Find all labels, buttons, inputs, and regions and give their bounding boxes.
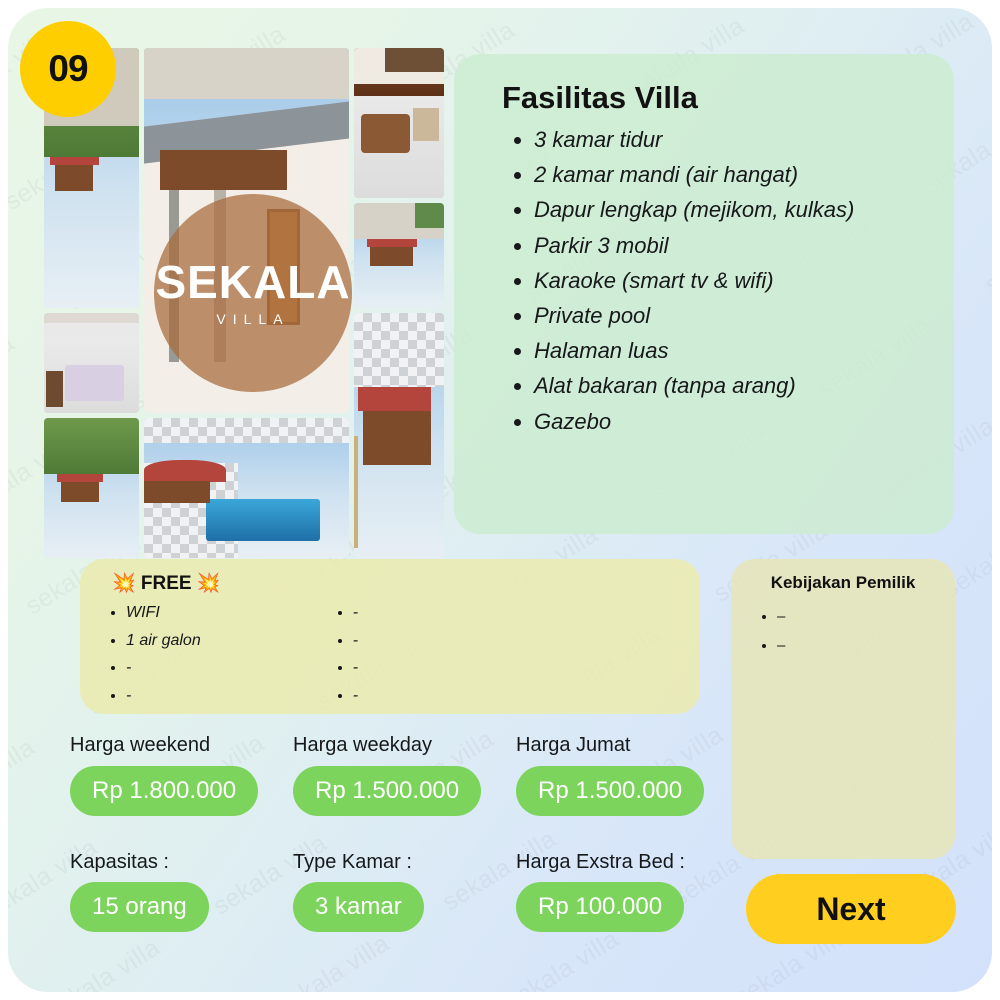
logo-subtitle: VILLA [216, 311, 289, 327]
free-item: - [353, 627, 358, 655]
free-title: 💥 FREE 💥 [112, 571, 700, 595]
photo-private-pool [144, 418, 349, 558]
free-item: WIFI [126, 599, 201, 627]
next-button[interactable]: Next [746, 874, 956, 944]
free-item: - [126, 682, 201, 710]
price-cell: Harga Exstra Bed :Rp 100.000 [516, 851, 739, 932]
price-row-primary: Harga weekendRp 1.800.000Harga weekdayRp… [70, 734, 739, 816]
next-button-label: Next [816, 891, 885, 928]
watermark-text: sekala villa [980, 207, 992, 300]
facility-item: Parkir 3 mobil [534, 228, 928, 263]
price-value-pill: 15 orang [70, 882, 209, 932]
watermark-text: sekala villa [959, 916, 992, 992]
owner-policy-item: – [777, 603, 955, 632]
free-item: 1 air galon [126, 627, 201, 655]
owner-policy-list: –– [777, 603, 955, 660]
slide-number-badge: 09 [20, 21, 116, 117]
price-label: Kapasitas : [70, 851, 293, 874]
photo-gazebo-terrace [354, 203, 444, 308]
photo-gazebo-poolside [354, 313, 444, 558]
owner-policy-panel: Kebijakan Pemilik –– [731, 559, 955, 859]
facility-item: Dapur lengkap (mejikom, kulkas) [534, 192, 928, 227]
photo-garden-gazebo [44, 418, 139, 558]
watermark-text: sekala villa [41, 933, 165, 992]
price-label: Harga Exstra Bed : [516, 851, 739, 874]
price-label: Harga weekday [293, 734, 516, 757]
price-label: Type Kamar : [293, 851, 516, 874]
price-label: Harga weekend [70, 734, 293, 757]
price-value-pill: Rp 1.800.000 [70, 766, 258, 816]
logo-brand: SEKALA [155, 259, 350, 305]
price-cell: Harga JumatRp 1.500.000 [516, 734, 739, 816]
facility-item: Alat bakaran (tanpa arang) [534, 368, 928, 403]
price-value-pill: 3 kamar [293, 882, 424, 932]
facility-item: 3 kamar tidur [534, 122, 928, 157]
free-item: - [353, 682, 358, 710]
facility-item: Private pool [534, 298, 928, 333]
owner-policy-title: Kebijakan Pemilik [731, 573, 955, 593]
price-cell: Harga weekdayRp 1.500.000 [293, 734, 516, 816]
facility-item: Gazebo [534, 404, 928, 439]
facility-item: Halaman luas [534, 333, 928, 368]
watermark-text: sekala villa [271, 929, 395, 992]
facilities-panel: Fasilitas Villa 3 kamar tidur2 kamar man… [454, 54, 954, 534]
facility-item: 2 kamar mandi (air hangat) [534, 157, 928, 192]
poster-card: sekala villasekala villasekala villaseka… [8, 8, 992, 992]
free-item: - [353, 599, 358, 627]
watermark-text: sekala villa [8, 328, 20, 421]
facilities-list: 3 kamar tidur2 kamar mandi (air hangat)D… [534, 122, 928, 439]
price-row-secondary: Kapasitas :15 orangType Kamar :3 kamarHa… [70, 851, 739, 932]
free-list-column-2: ---- [353, 599, 358, 709]
price-value-pill: Rp 1.500.000 [293, 766, 481, 816]
watermark-text: sekala villa [500, 925, 624, 992]
watermark-text: sekala villa [8, 733, 40, 826]
slide-number: 09 [48, 48, 87, 90]
photo-living-room [354, 48, 444, 198]
facility-item: Karaoke (smart tv & wifi) [534, 263, 928, 298]
price-label: Harga Jumat [516, 734, 739, 757]
facilities-title: Fasilitas Villa [502, 80, 928, 116]
price-value-pill: Rp 100.000 [516, 882, 684, 932]
price-value-pill: Rp 1.500.000 [516, 766, 704, 816]
price-cell: Kapasitas :15 orang [70, 851, 293, 932]
free-list-column-1: WIFI1 air galon-- [126, 599, 201, 709]
free-items-panel: 💥 FREE 💥 WIFI1 air galon-- ---- [80, 559, 700, 714]
owner-policy-item: – [777, 632, 955, 661]
sekala-villa-logo: SEKALA VILLA [154, 194, 352, 392]
price-cell: Harga weekendRp 1.800.000 [70, 734, 293, 816]
free-item: - [353, 654, 358, 682]
price-cell: Type Kamar :3 kamar [293, 851, 516, 932]
free-item: - [126, 654, 201, 682]
watermark-text: sekala villa [104, 8, 228, 12]
photo-bedroom [44, 313, 139, 413]
